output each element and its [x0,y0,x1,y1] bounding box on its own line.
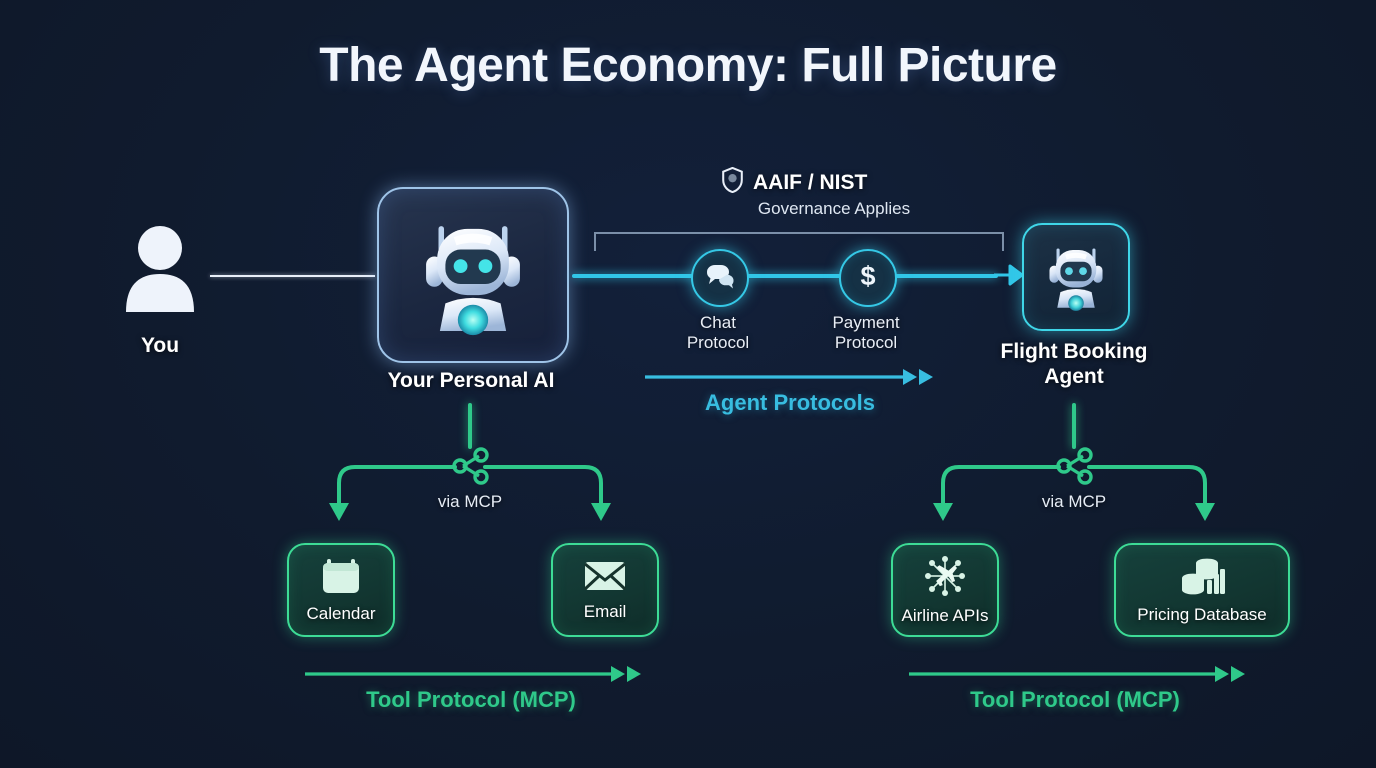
personal-ai-card[interactable] [377,187,569,363]
tool-label-pricing-database: Pricing Database [1137,605,1266,625]
tool-label-email: Email [584,602,627,622]
person-icon [120,222,200,312]
share-nodes-icon [1051,443,1097,494]
governance-title-text: AAIF / NIST [753,171,867,195]
envelope-icon [583,559,627,598]
page-title: The Agent Economy: Full Picture [0,38,1376,93]
tool-card-airline-apis[interactable]: Airline APIs [891,543,999,637]
chat-protocol-label: Chat Protocol [648,313,788,352]
chat-protocol-label-l1: Chat [648,313,788,333]
governance-subtitle: Governance Applies [714,199,954,219]
mcp-label-right: via MCP [1004,492,1144,512]
connector-chat-to-payment [746,274,842,278]
connector-payment-to-agent [890,274,998,278]
flight-booking-agent-label: Flight Booking Agent [954,340,1194,390]
connector-user-to-ai [210,275,375,277]
tool-card-pricing-database[interactable]: Pricing Database [1114,543,1290,637]
tool-protocol-label-left: Tool Protocol (MCP) [321,687,621,713]
coins-chart-icon [1179,556,1225,601]
payment-protocol-label: Payment Protocol [796,313,936,352]
chat-protocol-label-l2: Protocol [648,333,788,353]
diagram-canvas: The Agent Economy: Full Picture You [0,0,1376,768]
share-nodes-icon [447,443,493,494]
shield-icon [721,167,744,199]
agent-protocols-label: Agent Protocols [640,390,940,416]
robot-icon [404,204,542,347]
tool-protocol-arrow-left [305,665,643,688]
chat-bubbles-icon [705,263,735,294]
tool-protocol-label-right: Tool Protocol (MCP) [925,687,1225,713]
flight-agent-label-l1: Flight Booking [954,340,1194,365]
arrowhead-to-flight-agent [992,262,1026,293]
tool-card-email[interactable]: Email [551,543,659,637]
governance-title: AAIF / NIST [721,167,867,199]
governance-bracket [594,230,1004,257]
payment-protocol-label-l2: Protocol [796,333,936,353]
calendar-icon [321,557,361,600]
agent-protocols-arrow [645,368,935,391]
flight-agent-label-l2: Agent [954,365,1194,390]
tool-label-airline-apis: Airline APIs [902,606,989,626]
tool-protocol-arrow-right [909,665,1247,688]
tool-card-calendar[interactable]: Calendar [287,543,395,637]
payment-protocol-label-l1: Payment [796,313,936,333]
tool-label-calendar: Calendar [307,604,376,624]
chat-protocol-node[interactable] [691,249,749,307]
connector-ai-to-chat [572,274,700,278]
user-label: You [100,334,220,359]
robot-icon [1037,236,1115,319]
airplane-network-icon [923,555,967,602]
personal-ai-label: Your Personal AI [351,369,591,394]
mcp-label-left: via MCP [400,492,540,512]
flight-booking-agent-card[interactable] [1022,223,1130,331]
svg-text:$: $ [860,261,875,291]
dollar-sign-icon: $ [856,261,880,296]
payment-protocol-node[interactable]: $ [839,249,897,307]
